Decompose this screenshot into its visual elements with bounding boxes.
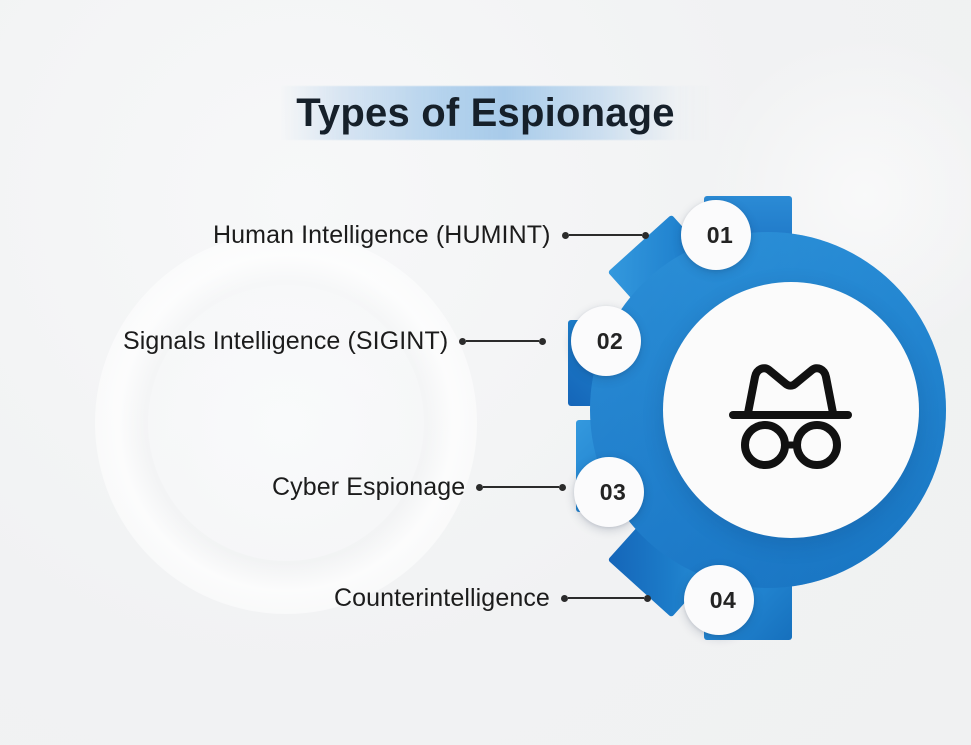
item-label: Human Intelligence (HUMINT) (213, 221, 551, 250)
page-title: Types of Espionage (296, 91, 674, 136)
connector-stroke (466, 340, 539, 342)
badge-01[interactable]: 01 (681, 200, 751, 270)
list-item-humint[interactable]: Human Intelligence (HUMINT) (213, 215, 649, 255)
connector-dot-end (642, 232, 649, 239)
item-label: Cyber Espionage (272, 473, 465, 502)
background-watermark-ring-outer (95, 232, 477, 614)
item-label: Counterintelligence (334, 584, 550, 613)
connector-stroke (569, 234, 642, 236)
connector-dot-start (476, 484, 483, 491)
connector-dot-end (539, 338, 546, 345)
espionage-infographic: Types of Espionage (0, 0, 971, 745)
title-container: Types of Espionage (0, 78, 971, 148)
connector-dot-start (459, 338, 466, 345)
connector-dot-start (562, 232, 569, 239)
connector-dot-start (561, 595, 568, 602)
list-item-sigint[interactable]: Signals Intelligence (SIGINT) (123, 321, 546, 361)
connector-dot-end (644, 595, 651, 602)
spy-incognito-icon (716, 351, 866, 469)
badge-03[interactable]: 03 (574, 457, 644, 527)
connector-line-01 (562, 232, 649, 239)
connector-stroke (568, 597, 644, 599)
connector-stroke (483, 486, 559, 488)
badge-number: 03 (600, 479, 626, 506)
badge-04[interactable]: 04 (684, 565, 754, 635)
connector-line-04 (561, 595, 651, 602)
connector-line-03 (476, 484, 566, 491)
badge-number: 02 (597, 328, 623, 355)
list-item-counterintelligence[interactable]: Counterintelligence (334, 578, 651, 618)
badge-number: 04 (710, 587, 736, 614)
list-item-cyber-espionage[interactable]: Cyber Espionage (272, 467, 566, 507)
item-label: Signals Intelligence (SIGINT) (123, 327, 448, 356)
connector-dot-end (559, 484, 566, 491)
badge-02[interactable]: 02 (571, 306, 641, 376)
connector-line-02 (459, 338, 546, 345)
badge-number: 01 (707, 222, 733, 249)
center-icon-disc (663, 282, 919, 538)
